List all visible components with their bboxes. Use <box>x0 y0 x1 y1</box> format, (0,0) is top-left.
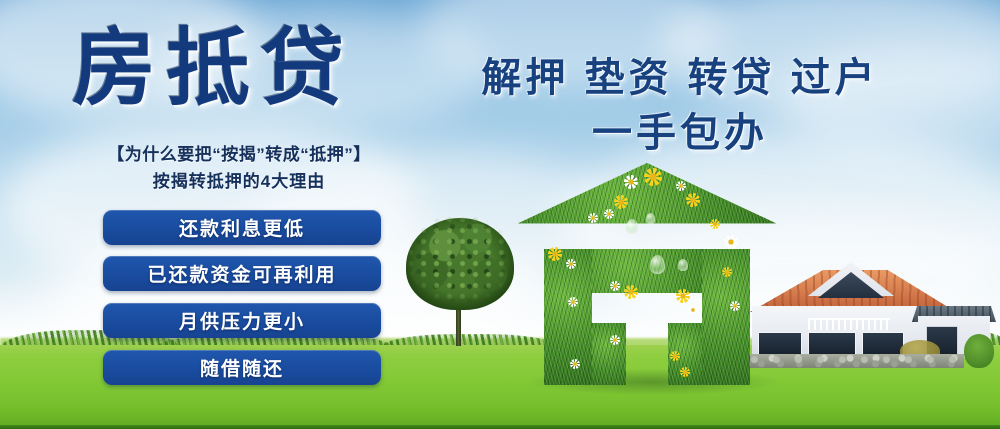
reason-button-1[interactable]: 还款利息更低 <box>103 210 381 245</box>
villa-window <box>758 332 802 356</box>
flower-icon <box>624 285 638 299</box>
dew-drop-icon <box>646 213 655 224</box>
flower-icon <box>644 168 662 186</box>
flower-icon <box>710 219 720 229</box>
flower-icon <box>610 335 620 345</box>
flower-icon <box>570 359 580 369</box>
grass-house-illustration <box>518 163 776 385</box>
reason-label-3: 月供压力更小 <box>179 307 305 334</box>
services-heading-line-2: 一手包办 <box>470 100 890 158</box>
flower-icon <box>588 213 598 223</box>
reason-button-3[interactable]: 月供压力更小 <box>103 303 381 338</box>
flower-icon <box>568 297 578 307</box>
villa-window <box>862 332 904 356</box>
flower-icon <box>624 175 638 189</box>
flower-icon <box>604 209 614 219</box>
flower-icon <box>614 195 628 209</box>
grass-house-left-wall <box>544 249 592 385</box>
flower-icon <box>730 301 740 311</box>
flower-icon <box>686 193 700 207</box>
subtitle-line-2: 按揭转抵押的4大理由 <box>84 167 394 192</box>
reason-button-2[interactable]: 已还款资金可再利用 <box>103 256 381 291</box>
villa-illustration <box>750 262 990 372</box>
dew-drop-icon <box>626 219 638 234</box>
flower-icon <box>724 235 738 249</box>
flower-icon <box>676 289 690 303</box>
tree-leaves <box>404 214 516 312</box>
page-title: 房抵贷 <box>72 26 354 110</box>
reason-label-4: 随借随还 <box>200 354 284 381</box>
promo-banner: 房抵贷 【为什么要把“按揭”转成“抵押”】 按揭转抵押的4大理由 解押 垫资 转… <box>0 0 1000 429</box>
grass-house-door-left <box>592 323 626 385</box>
flower-icon <box>680 367 690 377</box>
bottom-edge <box>0 425 1000 429</box>
reason-label-1: 还款利息更低 <box>179 214 305 241</box>
flower-icon <box>548 247 562 261</box>
villa-window <box>808 332 856 356</box>
reason-label-2: 已还款资金可再利用 <box>147 260 336 287</box>
flower-icon <box>670 351 680 361</box>
flower-icon <box>566 259 576 269</box>
villa-balcony <box>808 318 890 332</box>
subtitle-line-1: 【为什么要把“按揭”转成“抵押”】 <box>84 140 394 165</box>
flower-icon <box>676 181 686 191</box>
villa-stone-wall <box>750 354 964 368</box>
dew-drop-icon <box>650 255 665 274</box>
tree-icon <box>404 218 516 346</box>
flower-icon <box>610 281 620 291</box>
services-heading-line-1: 解押 垫资 转贷 过户 <box>470 45 890 103</box>
garden-bush-icon <box>964 334 994 368</box>
flower-icon <box>688 305 698 315</box>
dew-drop-icon <box>678 259 688 271</box>
flower-icon <box>722 267 732 277</box>
reason-button-4[interactable]: 随借随还 <box>103 350 381 385</box>
